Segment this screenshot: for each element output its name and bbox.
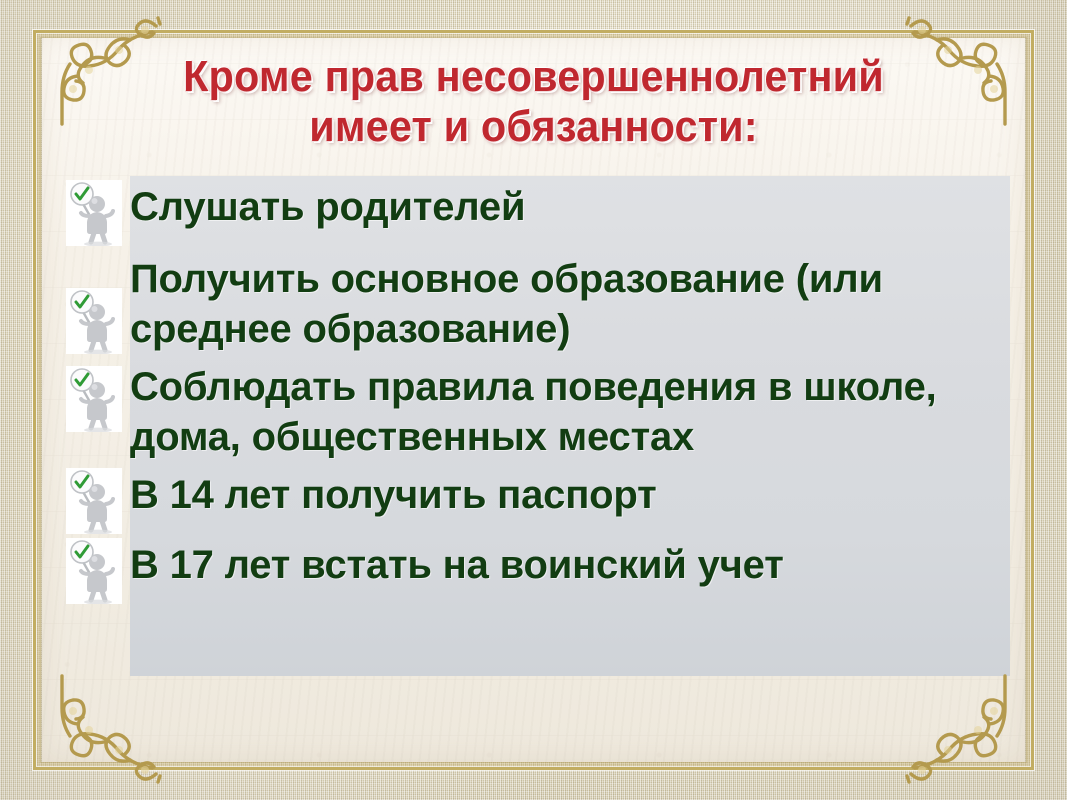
duty-text: Получить основное образование (или средн… (130, 252, 1016, 354)
slide-title: Кроме прав несовершеннолетний имеет и об… (32, 52, 1035, 152)
list-item: В 14 лет получить паспорт (66, 468, 1016, 534)
checkmark-person-icon (66, 180, 122, 246)
checkmark-person-icon (66, 366, 122, 432)
slide-title-line-1: Кроме прав несовершеннолетний (183, 52, 884, 101)
presentation-slide: Кроме прав несовершеннолетний имеет и об… (0, 0, 1067, 800)
duties-list: Слушать родителей Получить осн (66, 178, 1016, 606)
list-item: Слушать родителей (66, 180, 1016, 246)
list-item: Соблюдать правила поведения в школе, дом… (66, 360, 1016, 462)
checkmark-person-icon (66, 538, 122, 604)
checkmark-person-icon (66, 468, 122, 534)
duty-text: В 14 лет получить паспорт (130, 468, 1016, 520)
list-item: Получить основное образование (или средн… (66, 252, 1016, 354)
checkmark-person-icon (66, 288, 122, 354)
duty-text: Слушать родителей (130, 180, 1016, 232)
duty-text: Соблюдать правила поведения в школе, дом… (130, 360, 1016, 462)
list-item: В 17 лет встать на воинский учет (66, 538, 1016, 604)
slide-title-line-2: имеет и обязанности: (32, 102, 1035, 152)
duty-text: В 17 лет встать на воинский учет (130, 538, 1016, 590)
